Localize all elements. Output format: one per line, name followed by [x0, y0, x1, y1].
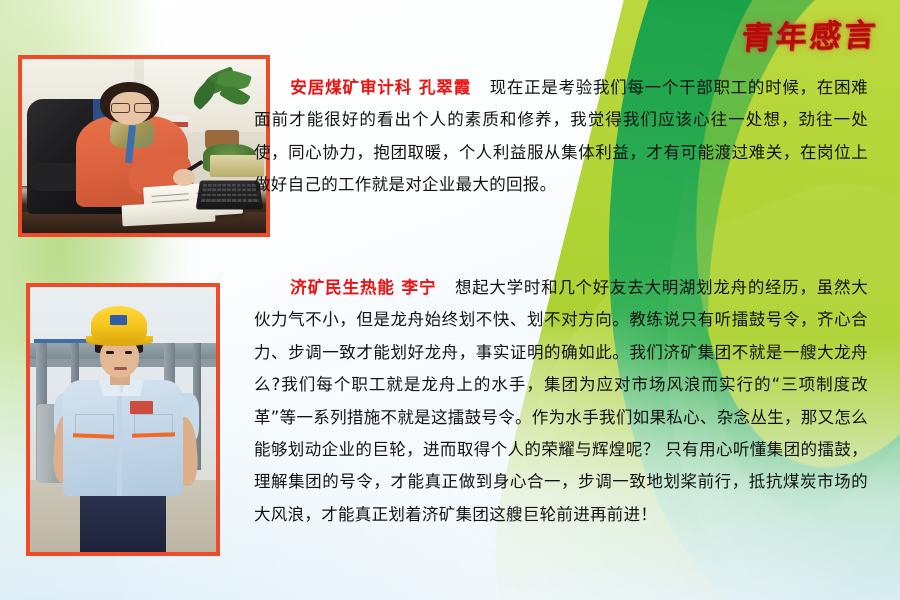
entry-1-text-block: 安居煤矿审计科 孔翠霞现在正是考验我们每一个干部职工的时候，在困难面前才能很好的…	[254, 72, 868, 202]
worker-company-logo	[130, 401, 152, 414]
worker-eye-right	[125, 351, 132, 354]
entry-2-speaker: 济矿民生热能 李宁	[290, 278, 436, 297]
person-glasses-right	[134, 103, 153, 114]
page-title: 青年感言	[740, 9, 881, 58]
entry-2-text-block: 济矿民生热能 李宁想起大学时和几个好友去大明湖划龙舟的经历，虽然大伙力气不小，但…	[254, 272, 868, 531]
entry-1-paragraph: 安居煤矿审计科 孔翠霞现在正是考验我们每一个干部职工的时候，在困难面前才能很好的…	[254, 72, 868, 202]
keyboard-row	[201, 194, 257, 197]
worker-mouth	[114, 367, 127, 370]
worker-eye-left	[106, 351, 113, 354]
person-glasses-left	[111, 103, 130, 114]
photo-2-content	[30, 287, 216, 552]
hard-hat-logo	[110, 315, 127, 326]
worker-shirt-placket	[117, 390, 122, 496]
worker-trousers	[80, 491, 166, 552]
book-line	[151, 193, 188, 197]
entry-2-paragraph: 济矿民生热能 李宁想起大学时和几个好友去大明湖划龙舟的经历，虽然大伙力气不小，但…	[254, 272, 868, 531]
worker-shirt	[63, 380, 182, 497]
photo-1-content	[22, 59, 266, 233]
entry-2-body: 想起大学时和几个好友去大明湖划龙舟的经历，虽然大伙力气不小，但是龙舟始终划不快、…	[254, 278, 868, 524]
photo-portrait-worker-hardhat	[26, 283, 220, 556]
photo-portrait-woman-at-desk	[18, 55, 270, 237]
keyboard-row	[202, 184, 256, 186]
entry-1-speaker: 安居煤矿审计科 孔翠霞	[290, 78, 471, 97]
keyboard-row	[200, 199, 258, 202]
poster-page: 青年感言	[0, 0, 900, 600]
keyboard-row	[202, 189, 257, 191]
person-hand	[173, 169, 195, 186]
